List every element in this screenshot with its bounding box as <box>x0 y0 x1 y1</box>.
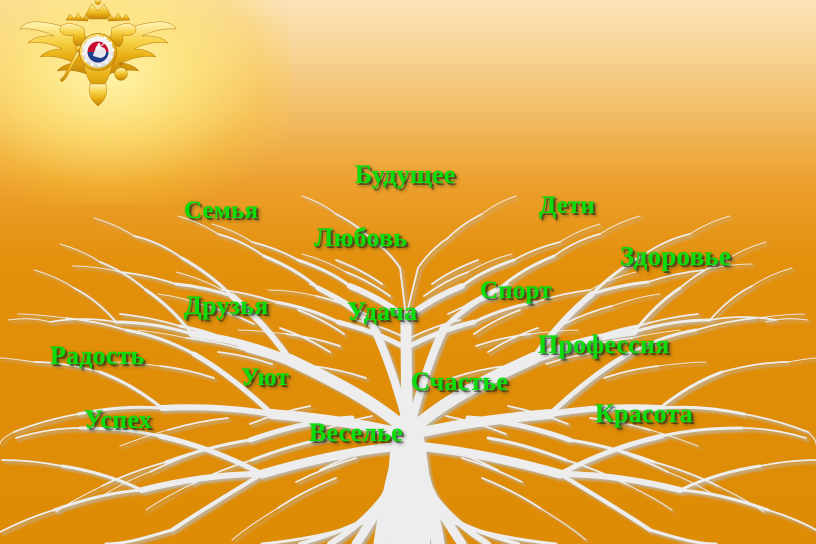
value-word-budushchee: Будущее <box>355 160 456 190</box>
value-word-udacha: Удача <box>347 297 417 327</box>
value-word-uyut: Уют <box>241 364 289 392</box>
poster-canvas: Конкурс социальной рекламы «Спасем жизнь… <box>0 0 816 544</box>
mvd-emblem <box>8 0 188 112</box>
value-word-sport: Спорт <box>480 277 552 305</box>
double-headed-eagle-icon <box>8 0 188 112</box>
value-word-professiya: Профессия <box>538 330 669 360</box>
value-word-druzya: Друзья <box>184 291 268 321</box>
value-word-semya: Семья <box>184 197 258 225</box>
value-word-lyubov: Любовь <box>314 223 407 253</box>
value-word-radost: Радость <box>50 341 145 371</box>
value-word-krasota: Красота <box>595 399 693 429</box>
value-word-veselye: Веселье <box>309 418 403 448</box>
value-word-schastye: Счастье <box>411 367 508 397</box>
emblem-medallion <box>80 34 117 71</box>
tree-artwork <box>0 128 816 544</box>
tree-svg <box>0 128 816 544</box>
value-word-uspekh: Успех <box>84 405 152 435</box>
value-word-deti: Дети <box>539 192 595 220</box>
value-word-zdorove: Здоровье <box>620 241 731 272</box>
